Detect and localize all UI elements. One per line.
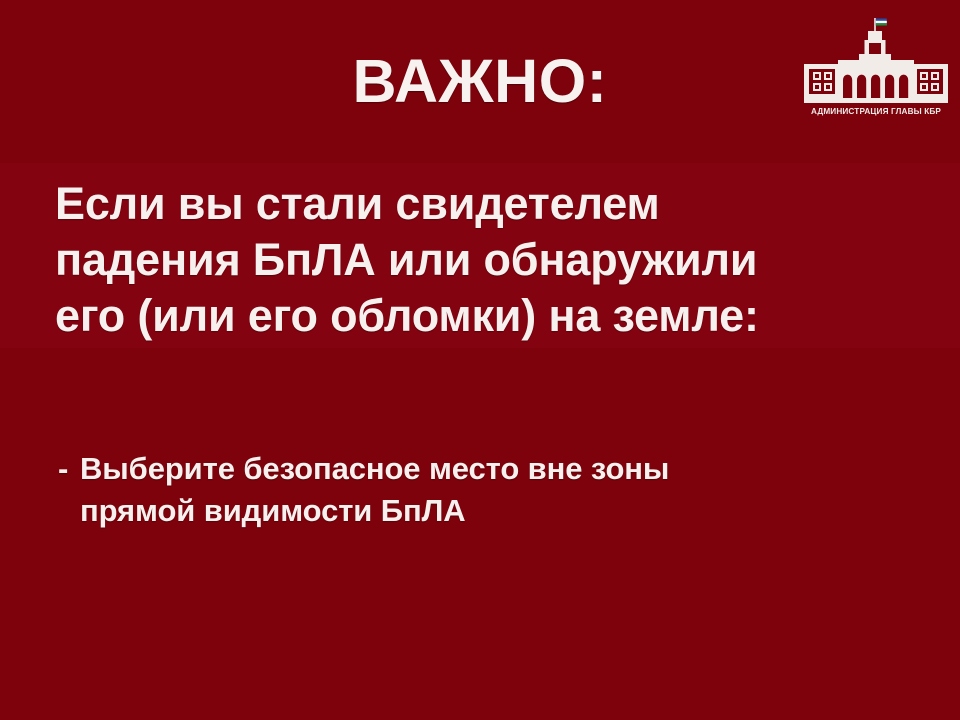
instruction-list: - Выберите безопасное место вне зоны пря… (58, 448, 918, 532)
lead-line: его (или его обломки) на земле: (55, 288, 921, 344)
lead-line: падения БпЛА или обнаружили (55, 232, 921, 288)
list-item-text: Выберите безопасное место вне зоны прямо… (80, 448, 918, 532)
lead-paragraph: Если вы стали свидетелем падения БпЛА ил… (55, 176, 921, 344)
list-item: - Выберите безопасное место вне зоны пря… (58, 448, 918, 532)
lead-line: Если вы стали свидетелем (55, 176, 921, 232)
list-item-line: прямой видимости БпЛА (80, 490, 918, 532)
list-item-line: Выберите безопасное место вне зоны (80, 448, 918, 490)
bullet-dash-icon: - (58, 448, 80, 490)
poster-canvas: АДМИНИСТРАЦИЯ ГЛАВЫ КБР ВАЖНО: Если вы с… (0, 0, 960, 720)
page-title: ВАЖНО: (0, 49, 960, 113)
